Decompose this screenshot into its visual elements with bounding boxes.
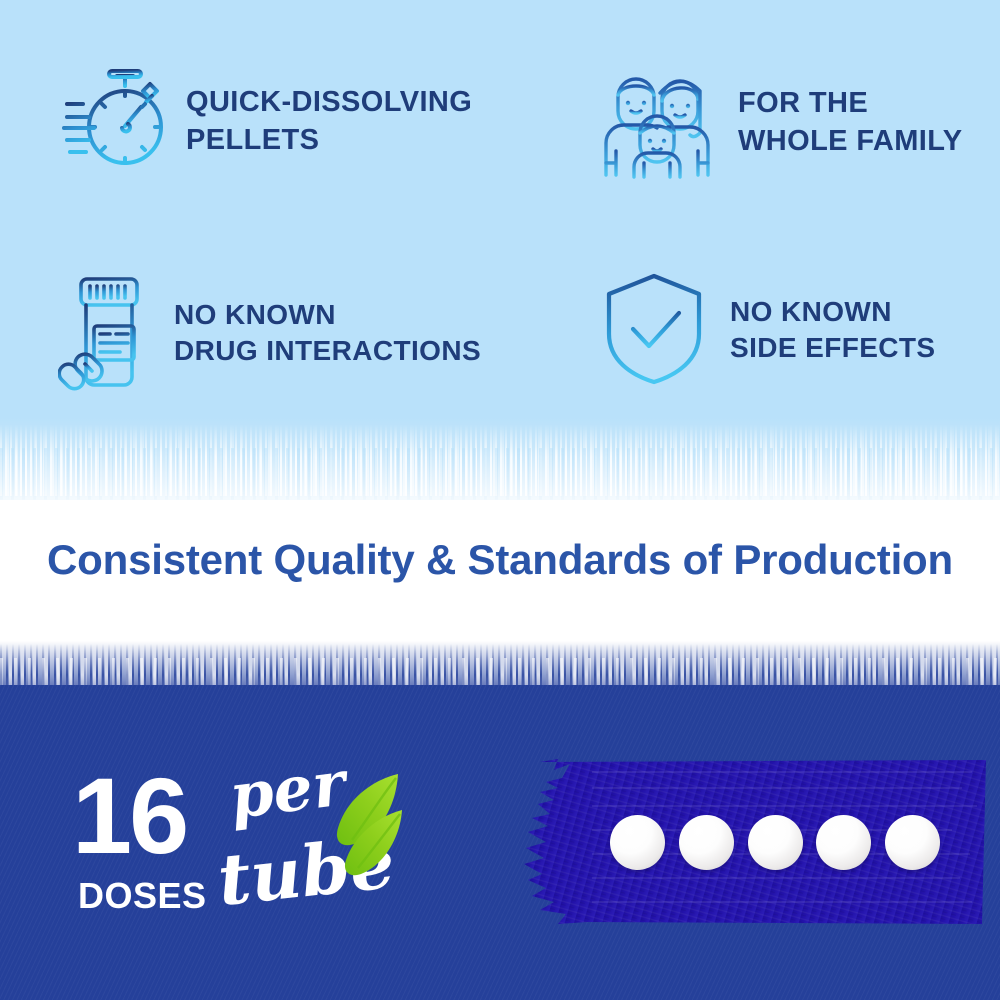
dose-count: 16 xyxy=(72,762,186,870)
feature-quick-dissolving-pellets: QUICK-DISSOLVING PELLETS xyxy=(62,52,502,192)
feature-no-known-drug-interactions: NO KNOWN DRUG INTERACTIONS xyxy=(58,268,508,398)
feature-label-line1: NO KNOWN xyxy=(174,299,336,330)
dose-unit-label: DOSES xyxy=(78,878,207,914)
feature-no-known-side-effects: NO KNOWN SIDE EFFECTS xyxy=(600,265,990,395)
pellet-sphere-icon xyxy=(610,815,665,870)
pellet-sphere-icon xyxy=(885,815,940,870)
pill-bottle-icon xyxy=(58,271,158,396)
shield-check-icon xyxy=(600,269,708,392)
leaf-icon xyxy=(312,762,422,882)
feature-label-line1: NO KNOWN xyxy=(730,296,892,327)
feature-for-the-whole-family: FOR THE WHOLE FAMILY xyxy=(598,48,998,198)
family-icon xyxy=(598,59,720,188)
pellet-row xyxy=(610,811,940,873)
dose-claim: 16 DOSES per tube xyxy=(72,768,412,928)
infographic-canvas: QUICK-DISSOLVING PELLETS xyxy=(0,0,1000,1000)
feature-label: NO KNOWN SIDE EFFECTS xyxy=(730,294,936,367)
stopwatch-icon xyxy=(62,60,170,185)
pellet-sphere-icon xyxy=(748,815,803,870)
feature-label-line1: QUICK-DISSOLVING xyxy=(186,86,472,118)
feature-label-line2: DRUG INTERACTIONS xyxy=(174,335,481,366)
pellet-sphere-icon xyxy=(816,815,871,870)
feature-label: QUICK-DISSOLVING PELLETS xyxy=(186,84,472,159)
pellet-brush-panel xyxy=(462,726,1000,956)
page-title: Consistent Quality & Standards of Produc… xyxy=(0,536,1000,584)
feature-label: NO KNOWN DRUG INTERACTIONS xyxy=(174,297,481,370)
feature-label-line2: PELLETS xyxy=(186,124,319,156)
feature-label-line2: WHOLE FAMILY xyxy=(738,125,962,157)
pellet-sphere-icon xyxy=(679,815,734,870)
feature-label-line2: SIDE EFFECTS xyxy=(730,332,936,363)
feature-grid: QUICK-DISSOLVING PELLETS xyxy=(0,0,1000,420)
feature-label: FOR THE WHOLE FAMILY xyxy=(738,85,962,160)
feature-label-line1: FOR THE xyxy=(738,87,868,119)
